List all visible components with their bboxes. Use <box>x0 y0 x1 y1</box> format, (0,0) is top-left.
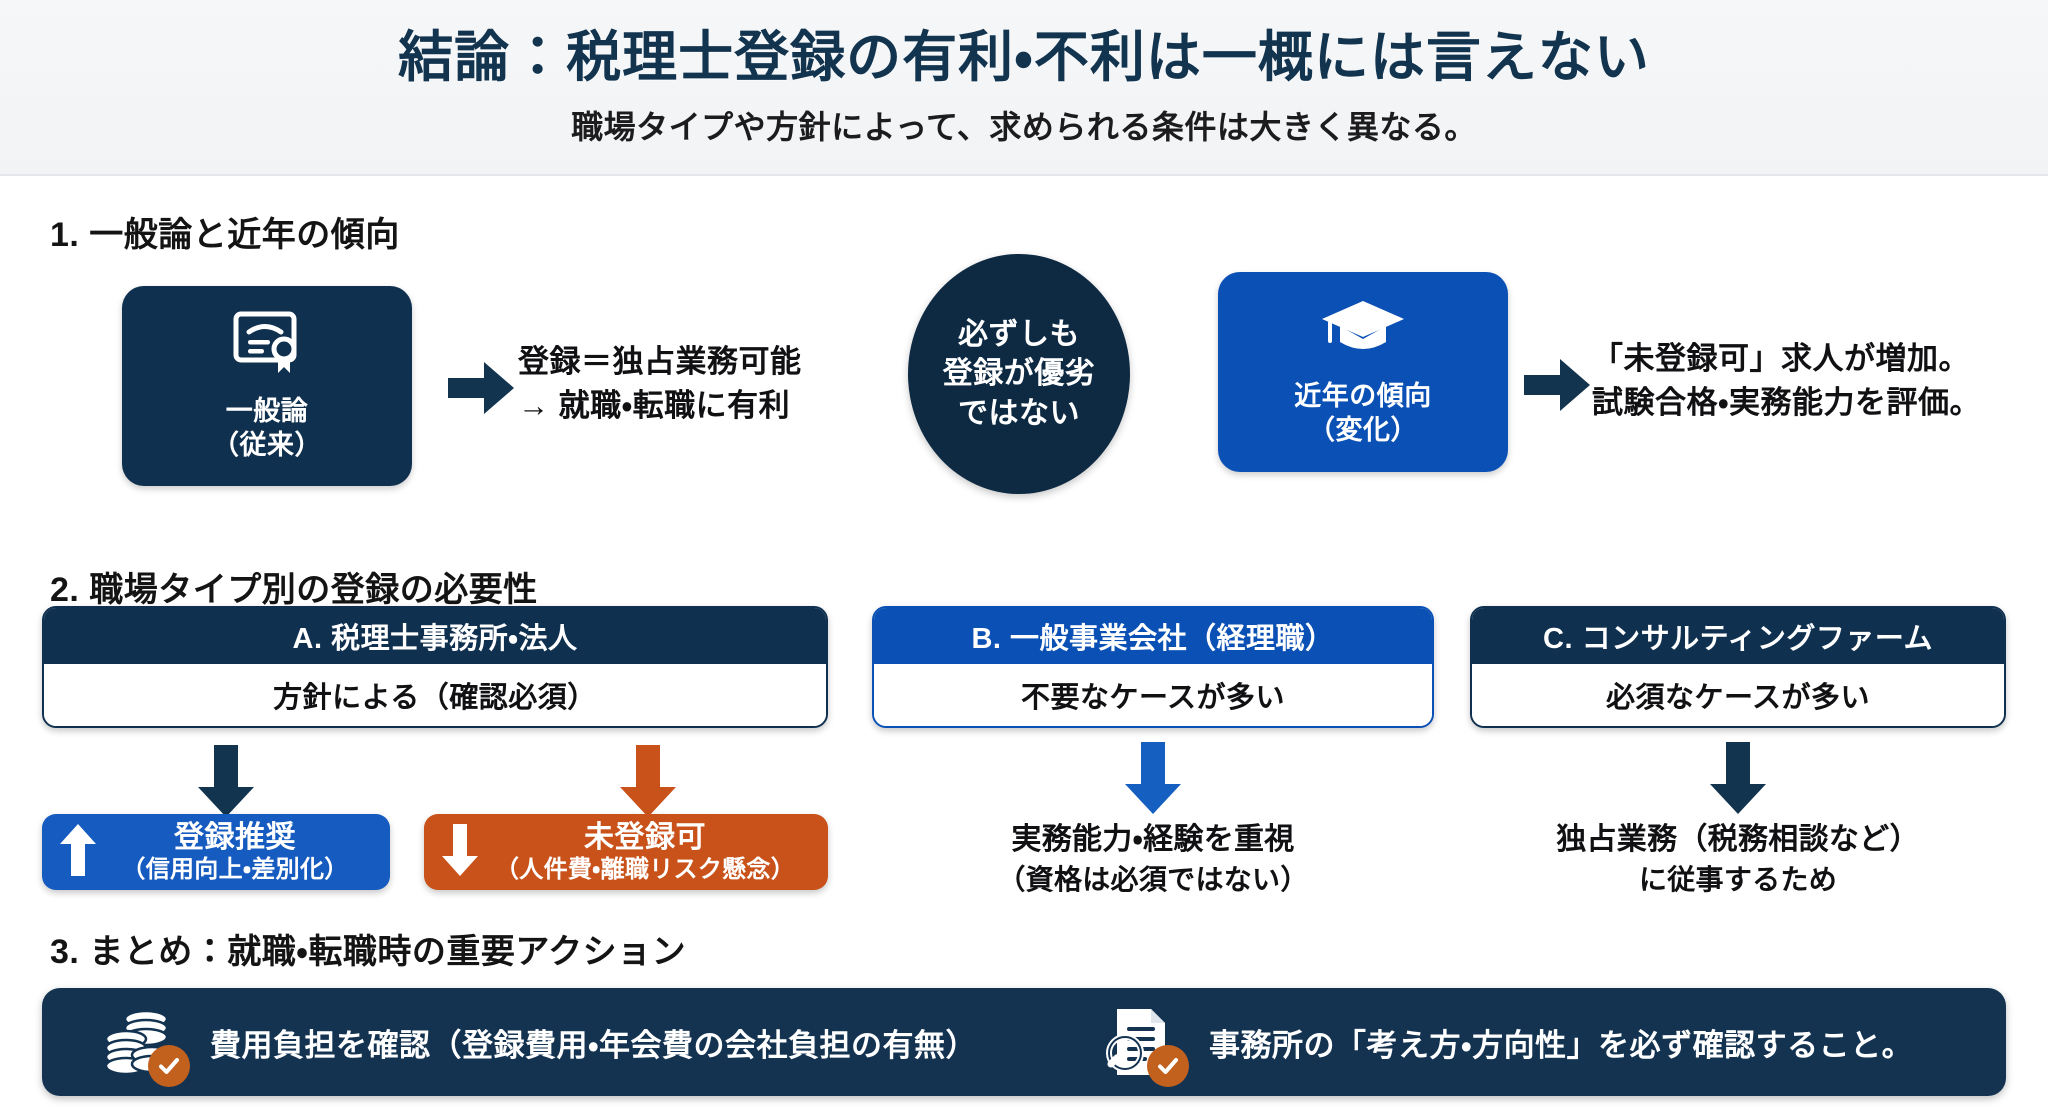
outcome-pill-recommend-text: 登録推奨 （信用向上・差別化） <box>106 820 390 884</box>
coins-icon <box>102 1001 184 1083</box>
outcome-pill-recommend[interactable]: 登録推奨 （信用向上・差別化） <box>42 814 390 890</box>
outcome-pill-recommend-sub: （信用向上・差別化） <box>106 856 364 884</box>
caption-company-line1: 実務能力・経験を重視 <box>1011 823 1294 856</box>
arrow-down-icon <box>1710 742 1766 814</box>
tile-general-line2: （従来） <box>212 430 322 460</box>
outcome-pill-unregistered[interactable]: 未登録可 （人件費・離職リスク懸念） <box>424 814 828 890</box>
caption-consulting-line2: に従事するため <box>1639 864 1837 895</box>
arrow-right-icon <box>448 360 514 416</box>
center-statement-line2: 登録が優劣 <box>943 357 1096 390</box>
type-card-c[interactable]: C. コンサルティングファーム 必須なケースが多い <box>1470 606 2006 728</box>
tile-recent-line1: 近年の傾向 <box>1294 381 1432 411</box>
flow-text-recent-line2: 試験合格・実務能力を評価。 <box>1592 385 1981 420</box>
flow-text-general: 登録＝独占業務可能 → 就職・転職に有利 <box>518 340 802 428</box>
page-title: 結論：税理士登録の有利・不利は一概には言えない <box>398 26 1650 89</box>
summary-item-policy-text: 事務所の「考え方・方向性」を必ず確認すること。 <box>1209 1020 1913 1065</box>
type-card-a[interactable]: A. 税理士事務所・法人 方針による（確認必須） <box>42 606 828 728</box>
center-statement-line3: ではない <box>958 397 1080 430</box>
caption-consulting: 独占業務（税務相談など） に従事するため <box>1470 820 2006 900</box>
tile-recent-trend-label: 近年の傾向 （変化） <box>1294 380 1432 448</box>
caption-company-line2: （資格は必須ではない） <box>997 864 1308 895</box>
type-card-c-body: 必須なケースが多い <box>1472 664 2004 726</box>
type-card-c-title: C. コンサルティングファーム <box>1472 608 2004 664</box>
summary-item-policy[interactable]: 事務所の「考え方・方向性」を必ず確認すること。 <box>1101 988 1913 1096</box>
check-icon <box>1147 1045 1189 1087</box>
header-band: 結論：税理士登録の有利・不利は一概には言えない 職場タイプや方針によって、求めら… <box>0 0 2048 176</box>
type-card-b-body: 不要なケースが多い <box>874 664 1432 726</box>
type-card-b[interactable]: B. 一般事業会社（経理職） 不要なケースが多い <box>872 606 1434 728</box>
summary-item-cost-text: 費用負担を確認（登録費用・年会費の会社負担の有無） <box>210 1020 977 1065</box>
arrow-down-icon <box>620 745 676 817</box>
infographic-canvas: 結論：税理士登録の有利・不利は一概には言えない 職場タイプや方針によって、求めら… <box>0 0 2048 1117</box>
check-icon <box>148 1045 190 1087</box>
document-search-icon <box>1101 1001 1183 1083</box>
arrow-up-icon <box>60 824 96 881</box>
flow-text-recent-line1: 「未登録可」求人が増加。 <box>1592 341 1970 376</box>
arrow-down-icon <box>198 745 254 817</box>
tile-general-theory-label: 一般論 （従来） <box>212 395 322 463</box>
outcome-pill-unregistered-sub: （人件費・離職リスク懸念） <box>488 856 802 884</box>
tile-general-line1: 一般論 <box>226 396 309 426</box>
flow-text-recent: 「未登録可」求人が増加。 試験合格・実務能力を評価。 <box>1592 337 1981 425</box>
outcome-pill-unregistered-main: 未登録可 <box>488 820 802 855</box>
page-subtitle: 職場タイプや方針によって、求められる条件は大きく異なる。 <box>571 102 1477 148</box>
caption-company: 実務能力・経験を重視 （資格は必須ではない） <box>872 820 1434 900</box>
flow-text-general-line2: → 就職・転職に有利 <box>518 388 790 423</box>
summary-item-cost[interactable]: 費用負担を確認（登録費用・年会費の会社負担の有無） <box>102 988 977 1096</box>
tile-recent-line2: （変化） <box>1308 415 1418 445</box>
flow-text-general-line1: 登録＝独占業務可能 <box>518 344 802 379</box>
type-card-a-body: 方針による（確認必須） <box>44 664 826 726</box>
summary-bar: 費用負担を確認（登録費用・年会費の会社負担の有無） <box>42 988 2006 1096</box>
section-2-heading: 2. 職場タイプ別の登録の必要性 <box>50 562 538 611</box>
type-card-a-title: A. 税理士事務所・法人 <box>44 608 826 664</box>
arrow-down-icon <box>1125 742 1181 814</box>
tile-recent-trend[interactable]: 近年の傾向 （変化） <box>1218 272 1508 472</box>
section-3-heading: 3. まとめ：就職・転職時の重要アクション <box>50 924 686 973</box>
type-card-b-title: B. 一般事業会社（経理職） <box>874 608 1432 664</box>
graduation-cap-icon <box>1320 297 1406 366</box>
center-statement-badge: 必ずしも 登録が優劣 ではない <box>908 254 1130 494</box>
outcome-pill-unregistered-text: 未登録可 （人件費・離職リスク懸念） <box>488 820 828 884</box>
section-1-heading: 1. 一般論と近年の傾向 <box>50 207 400 256</box>
center-statement-text: 必ずしも 登録が優劣 ではない <box>943 315 1096 434</box>
center-statement-line1: 必ずしも <box>958 318 1080 351</box>
arrow-right-icon <box>1524 357 1590 413</box>
outcome-pill-recommend-main: 登録推奨 <box>106 820 364 855</box>
tile-general-theory[interactable]: 一般論 （従来） <box>122 286 412 486</box>
caption-consulting-line1: 独占業務（税務相談など） <box>1556 823 1920 856</box>
certificate-icon <box>229 310 305 381</box>
arrow-down-icon <box>442 824 478 881</box>
